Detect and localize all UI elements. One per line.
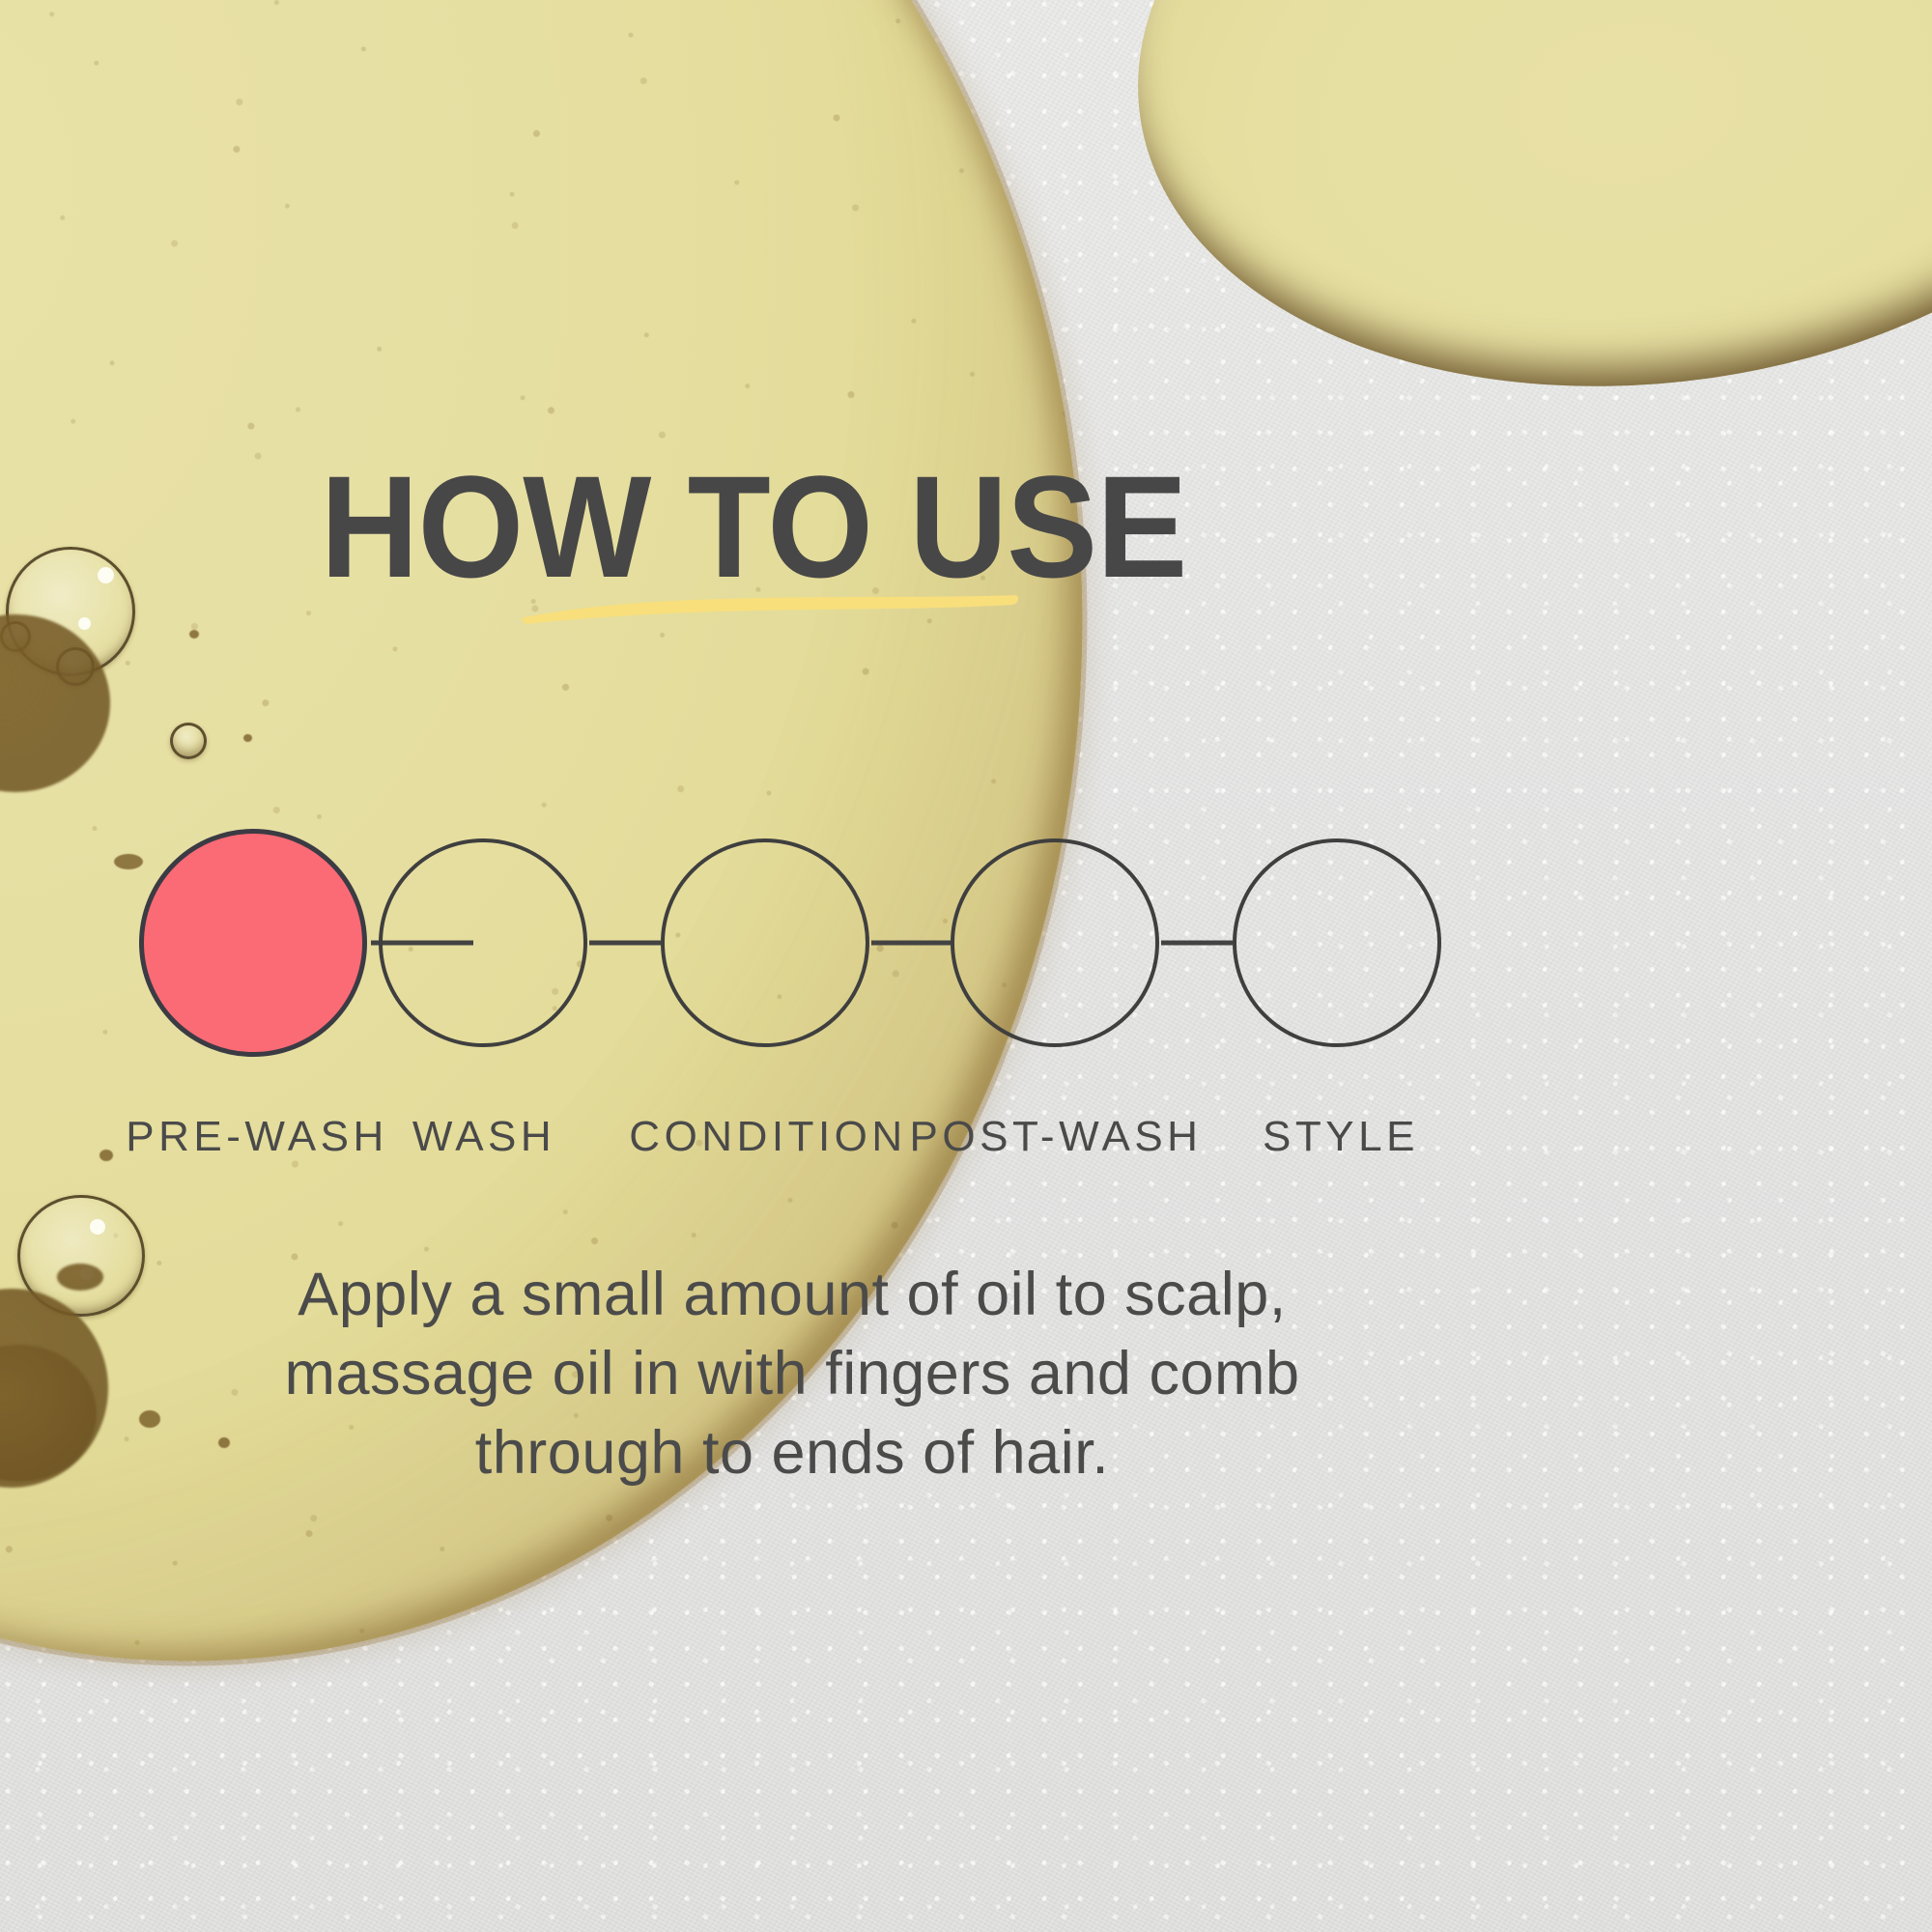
step-connector: [871, 941, 951, 946]
how-to-use-step-tracker: [0, 827, 1932, 1059]
oil-speck-icon: [218, 1437, 230, 1448]
step-label-wash: WASH: [412, 1113, 555, 1161]
step-label-post-wash: POST-WASH: [910, 1113, 1203, 1161]
step-label-condition: CONDITION: [629, 1113, 906, 1161]
step-node-style[interactable]: [1233, 838, 1441, 1047]
oil-speck-icon: [189, 630, 199, 639]
instructions-line: massage oil in with fingers and comb: [241, 1335, 1343, 1414]
step-node-pre-wash[interactable]: [139, 829, 367, 1057]
title-underline-stroke: [518, 592, 1020, 625]
step-label-pre-wash: PRE-WASH: [126, 1113, 388, 1161]
oil-speck-icon: [57, 1264, 103, 1291]
bubble-highlight-icon: [78, 617, 91, 630]
oil-speck-icon: [99, 1150, 113, 1161]
step-label-style: STYLE: [1263, 1113, 1419, 1161]
air-bubble-icon: [170, 723, 207, 759]
step-connector: [1161, 941, 1233, 946]
page-title: HOW TO USE: [45, 454, 1462, 599]
step-node-post-wash[interactable]: [951, 838, 1159, 1047]
instructions-line: through to ends of hair.: [241, 1414, 1343, 1493]
step-node-condition[interactable]: [661, 838, 869, 1047]
poster-canvas: HOW TO USE PRE-WASH WASH CONDITION POST-…: [0, 0, 1932, 1932]
step-connector: [589, 941, 661, 946]
bubble-highlight-icon: [90, 1219, 105, 1235]
instructions-line: Apply a small amount of oil to scalp,: [241, 1256, 1343, 1335]
oil-speck-icon: [139, 1410, 160, 1428]
step-node-wash[interactable]: [379, 838, 587, 1047]
instructions-paragraph: Apply a small amount of oil to scalp, ma…: [241, 1256, 1343, 1493]
oil-speck-icon: [243, 734, 252, 742]
